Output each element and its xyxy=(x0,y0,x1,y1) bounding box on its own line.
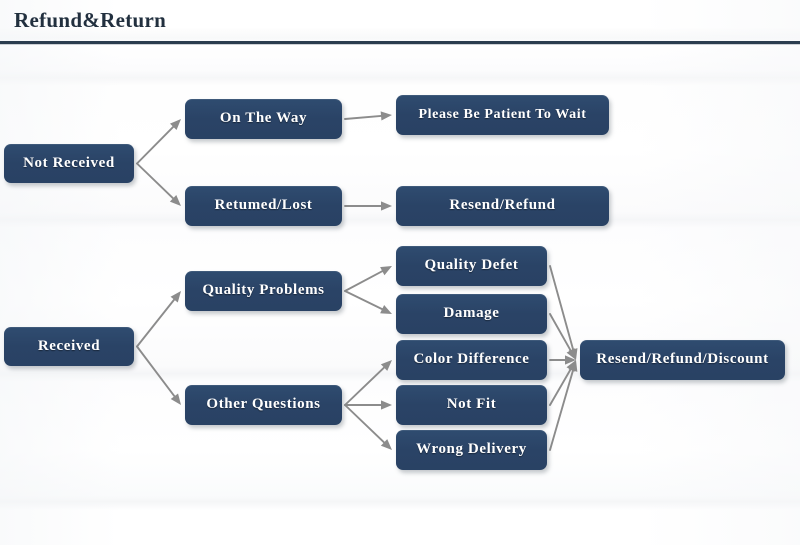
flow-node-not-received[interactable]: Not Received xyxy=(4,144,134,183)
flow-arrow-other-questions-to-color-difference xyxy=(345,360,392,405)
flow-node-other-questions[interactable]: Other Questions xyxy=(185,385,342,425)
flow-node-not-fit[interactable]: Not Fit xyxy=(396,385,547,425)
flow-node-returned-lost[interactable]: Retumed/Lost xyxy=(185,186,342,226)
slide-canvas: Refund&Return Not ReceivedOn The WayRetu… xyxy=(0,0,800,545)
flow-arrow-received-to-other-questions xyxy=(137,347,181,406)
flow-arrow-damage-to-resend-refund-discount xyxy=(550,314,576,360)
flow-node-received[interactable]: Received xyxy=(4,327,134,366)
flow-node-quality-problems[interactable]: Quality Problems xyxy=(185,271,342,311)
flow-node-resend-refund-discount[interactable]: Resend/Refund/Discount xyxy=(580,340,785,380)
flow-node-wrong-delivery[interactable]: Wrong Delivery xyxy=(396,430,547,470)
flow-arrow-quality-problems-to-damage xyxy=(345,291,392,314)
flow-node-on-the-way[interactable]: On The Way xyxy=(185,99,342,139)
flow-arrow-received-to-quality-problems xyxy=(137,291,181,347)
page-title: Refund&Return xyxy=(14,8,166,33)
flow-node-damage[interactable]: Damage xyxy=(396,294,547,334)
flow-node-quality-defet[interactable]: Quality Defet xyxy=(396,246,547,286)
flow-node-please-be-patient[interactable]: Please Be Patient To Wait xyxy=(396,95,609,135)
flow-arrow-quality-problems-to-quality-defet xyxy=(345,266,392,291)
flow-arrow-not-fit-to-resend-refund-discount xyxy=(550,360,576,405)
flow-arrow-quality-defet-to-resend-refund-discount xyxy=(550,266,578,360)
flow-arrow-wrong-delivery-to-resend-refund-discount xyxy=(550,360,577,450)
flow-arrow-other-questions-to-not-fit xyxy=(345,400,392,409)
flow-node-resend-refund[interactable]: Resend/Refund xyxy=(396,186,609,226)
flow-arrow-other-questions-to-wrong-delivery xyxy=(345,405,392,450)
slide-header: Refund&Return xyxy=(0,0,800,46)
flow-arrow-returned-lost-to-resend-refund xyxy=(345,201,392,210)
flow-arrow-color-difference-to-resend-refund-discount xyxy=(550,355,576,364)
title-divider-shadow xyxy=(0,44,800,45)
flow-node-color-difference[interactable]: Color Difference xyxy=(396,340,547,380)
flow-arrow-not-received-to-returned-lost xyxy=(137,164,181,207)
flow-arrow-on-the-way-to-please-be-patient xyxy=(345,111,392,120)
flow-arrow-not-received-to-on-the-way xyxy=(137,119,181,164)
